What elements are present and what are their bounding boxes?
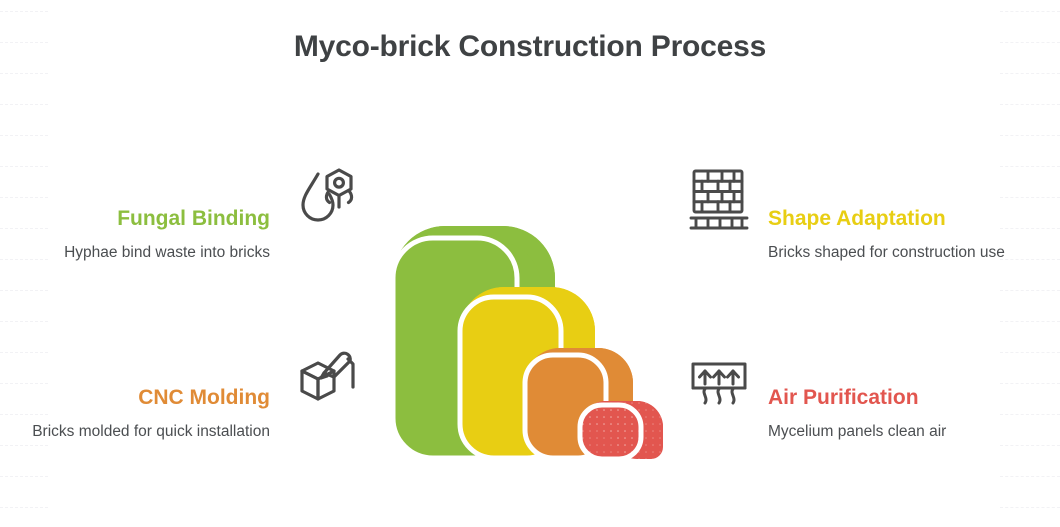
infographic-canvas: Myco-brick Construction Process Fungal B… [0,0,1060,527]
feature-heading-fungal-binding: Fungal Binding [0,206,270,232]
feature-description-fungal-binding: Hyphae bind waste into bricks [0,241,270,264]
feature-description-air-purification: Mycelium panels clean air [768,420,1060,443]
feature-heading-cnc-molding: CNC Molding [0,385,270,411]
feature-heading-air-purification: Air Purification [768,385,1060,411]
feature-description-cnc-molding: Bricks molded for quick installation [0,420,270,443]
droplet-bolt-icon [296,166,358,228]
feature-heading-shape-adaptation: Shape Adaptation [768,206,1060,232]
feature-shape-adaptation: Shape Adaptation Bricks shaped for const… [768,206,1060,264]
nested-brick-stack-graphic [385,205,685,485]
feature-fungal-binding: Fungal Binding Hyphae bind waste into br… [0,206,285,264]
feature-cnc-molding: CNC Molding Bricks molded for quick inst… [0,385,285,443]
brick-wall-icon [688,166,750,228]
page-title: Myco-brick Construction Process [0,30,1060,64]
feature-description-shape-adaptation: Bricks shaped for construction use [768,241,1060,264]
block-red [580,401,663,459]
feature-air-purification: Air Purification Mycelium panels clean a… [768,385,1060,443]
cube-cnc-tool-icon [296,347,358,409]
air-filter-arrows-icon [688,358,750,420]
